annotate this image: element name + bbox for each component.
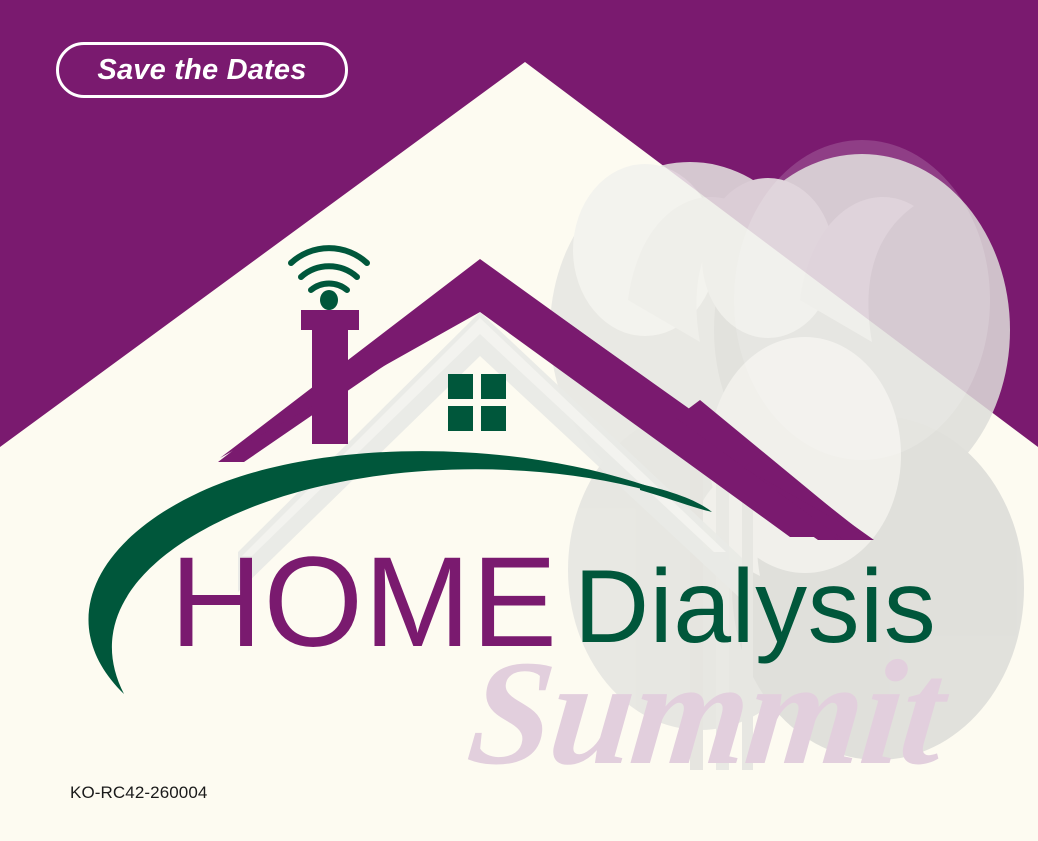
save-the-dates-badge[interactable]: Save the Dates bbox=[56, 42, 348, 98]
wifi-dot-icon bbox=[320, 290, 338, 310]
poster-artwork bbox=[0, 0, 1038, 841]
save-the-dates-label: Save the Dates bbox=[97, 54, 306, 87]
poster-canvas: Save the Dates Summit HOME Dialysis KO-R… bbox=[0, 0, 1038, 841]
watermark-purple-blob bbox=[734, 140, 990, 460]
